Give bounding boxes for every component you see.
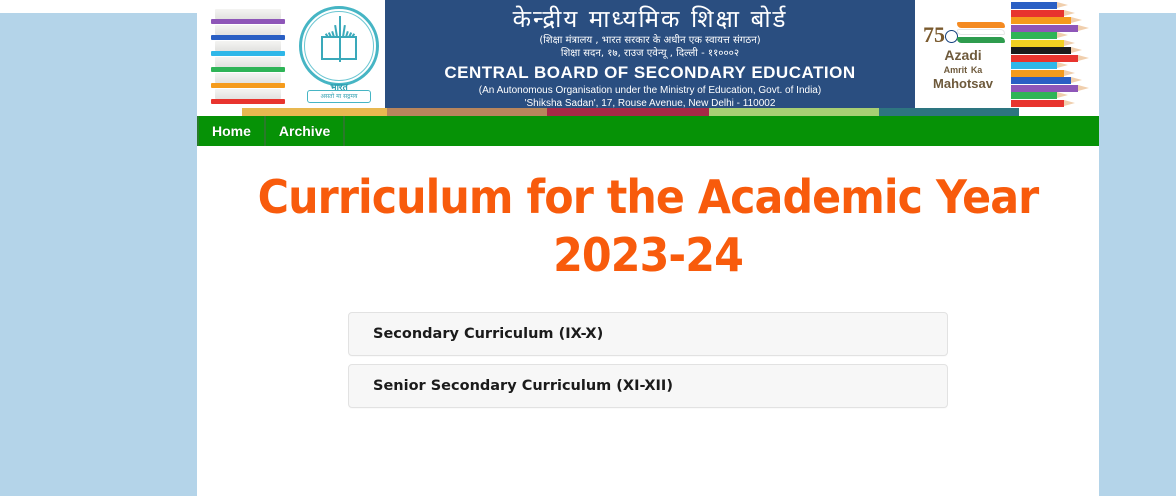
main-content: Curriculum for the Academic Year 2023-24… [197, 146, 1099, 496]
pencil-tip [1057, 32, 1068, 38]
pencil [1011, 47, 1071, 54]
pencil [1011, 85, 1078, 92]
book-stack-icon [203, 3, 295, 107]
book-pages [215, 25, 281, 35]
banner-english-subtitle-2: 'Shiksha Sadan', 17, Rouse Avenue, New D… [385, 97, 915, 108]
banner-hindi-title: केन्द्रीय माध्यमिक शिक्षा बोर्ड [385, 0, 915, 34]
pencil [1011, 55, 1078, 62]
curriculum-accordion: Secondary Curriculum (IX-X) Senior Secon… [348, 312, 948, 408]
pencil-tip [1064, 70, 1075, 76]
stripe-segment [1019, 108, 1099, 116]
stripe-segment [709, 108, 794, 116]
pencil-tip [1078, 25, 1089, 31]
emblem-open-book-icon [321, 36, 357, 60]
stripe-segment [387, 108, 467, 116]
book-spine [211, 67, 285, 72]
banner-english-subtitle-1: (An Autonomous Organisation under the Mi… [385, 84, 915, 97]
pencil-tip [1057, 62, 1068, 68]
pencil [1011, 32, 1057, 39]
flame-ray [339, 16, 341, 37]
azadi-mahotsav-text: Mahotsav [933, 76, 993, 91]
pencil [1011, 100, 1064, 107]
content-column: भारत असतो मा सद्गमय केन्द्रीय माध्यमिक श… [197, 0, 1099, 496]
azadi-amrit-text: Amrit [944, 65, 968, 75]
pencil-tip [1071, 77, 1082, 83]
azadi-ka-text: Ka [971, 65, 983, 75]
book-pages [215, 9, 281, 19]
book-pages [215, 89, 281, 99]
book-pages [215, 57, 281, 67]
accordion-secondary-curriculum-label: Secondary Curriculum (IX-X) [373, 326, 603, 342]
accordion-senior-secondary-curriculum-label: Senior Secondary Curriculum (XI-XII) [373, 378, 673, 394]
stripe-segment [627, 108, 709, 116]
book-spine [211, 35, 285, 40]
azadi-75-number: 75 [923, 22, 945, 48]
pencil [1011, 10, 1064, 17]
flag-band-saffron [957, 22, 1005, 28]
pencil-tip [1071, 17, 1082, 23]
cbse-emblem-icon: भारत असतो मा सद्गमय [291, 2, 387, 106]
emblem-flame-icon [325, 19, 353, 37]
pencil-tip [1064, 10, 1075, 16]
pencil-tip [1064, 40, 1075, 46]
stripe-segment [197, 108, 242, 116]
pencil-tip [1064, 100, 1075, 106]
book-spine [211, 99, 285, 104]
pencil [1011, 70, 1064, 77]
stripe-segment [467, 108, 547, 116]
main-navigation-bar: Home Archive [197, 116, 1099, 146]
banner-hindi-subtitle-1: (शिक्षा मंत्रालय , भारत सरकार के अधीन एक… [385, 34, 915, 47]
pencil-tip [1057, 2, 1068, 8]
stripe-segment [547, 108, 627, 116]
stripe-segment [242, 108, 387, 116]
pencil-tip [1057, 92, 1068, 98]
azadi-wordmark: Azadi Amrit Ka Mahotsav [915, 48, 1011, 91]
book-pages [215, 41, 281, 51]
pencil [1011, 25, 1078, 32]
pencil [1011, 92, 1057, 99]
site-banner: भारत असतो मा सद्गमय केन्द्रीय माध्यमिक श… [197, 0, 1099, 108]
pencil [1011, 17, 1071, 24]
pencil-tip [1078, 85, 1089, 91]
flag-band-white [957, 29, 1005, 35]
flag-band-green [957, 37, 1005, 43]
accordion-secondary-curriculum[interactable]: Secondary Curriculum (IX-X) [348, 312, 948, 356]
stripe-segment [794, 108, 879, 116]
pencil [1011, 40, 1064, 47]
book-spine [211, 19, 285, 24]
banner-title-panel: केन्द्रीय माध्यमिक शिक्षा बोर्ड (शिक्षा … [385, 0, 915, 108]
emblem-motto-ribbon: असतो मा सद्गमय [307, 90, 371, 103]
book-spine [211, 51, 285, 56]
stripe-segment [879, 108, 1019, 116]
banner-english-title: CENTRAL BOARD OF SECONDARY EDUCATION [385, 60, 915, 84]
banner-hindi-subtitle-2: शिक्षा सदन, १७, राउज एवेन्यू , दिल्ली - … [385, 47, 915, 60]
book-spine [211, 83, 285, 88]
azadi-line-2: Amrit Ka Mahotsav [915, 62, 1011, 91]
book-pages [215, 73, 281, 83]
decorative-color-stripe [197, 108, 1099, 116]
page-title: Curriculum for the Academic Year 2023-24 [243, 168, 1052, 284]
nav-item-home[interactable]: Home [197, 116, 266, 146]
colored-pencils-icon [1011, 0, 1099, 108]
tricolour-flag-icon [957, 22, 1005, 46]
azadi-ka-amrit-mahotsav-logo: 75 Azadi Amrit Ka Mahotsav [915, 0, 1011, 108]
pencil [1011, 2, 1057, 9]
pencil [1011, 62, 1057, 69]
pencil-tip [1071, 47, 1082, 53]
pencil-tip [1078, 55, 1089, 61]
accordion-senior-secondary-curriculum[interactable]: Senior Secondary Curriculum (XI-XII) [348, 364, 948, 408]
page-root: भारत असतो मा सद्गमय केन्द्रीय माध्यमिक श… [0, 0, 1176, 496]
pencil [1011, 77, 1071, 84]
nav-item-archive[interactable]: Archive [266, 116, 345, 146]
azadi-line-1: Azadi [915, 48, 1011, 62]
